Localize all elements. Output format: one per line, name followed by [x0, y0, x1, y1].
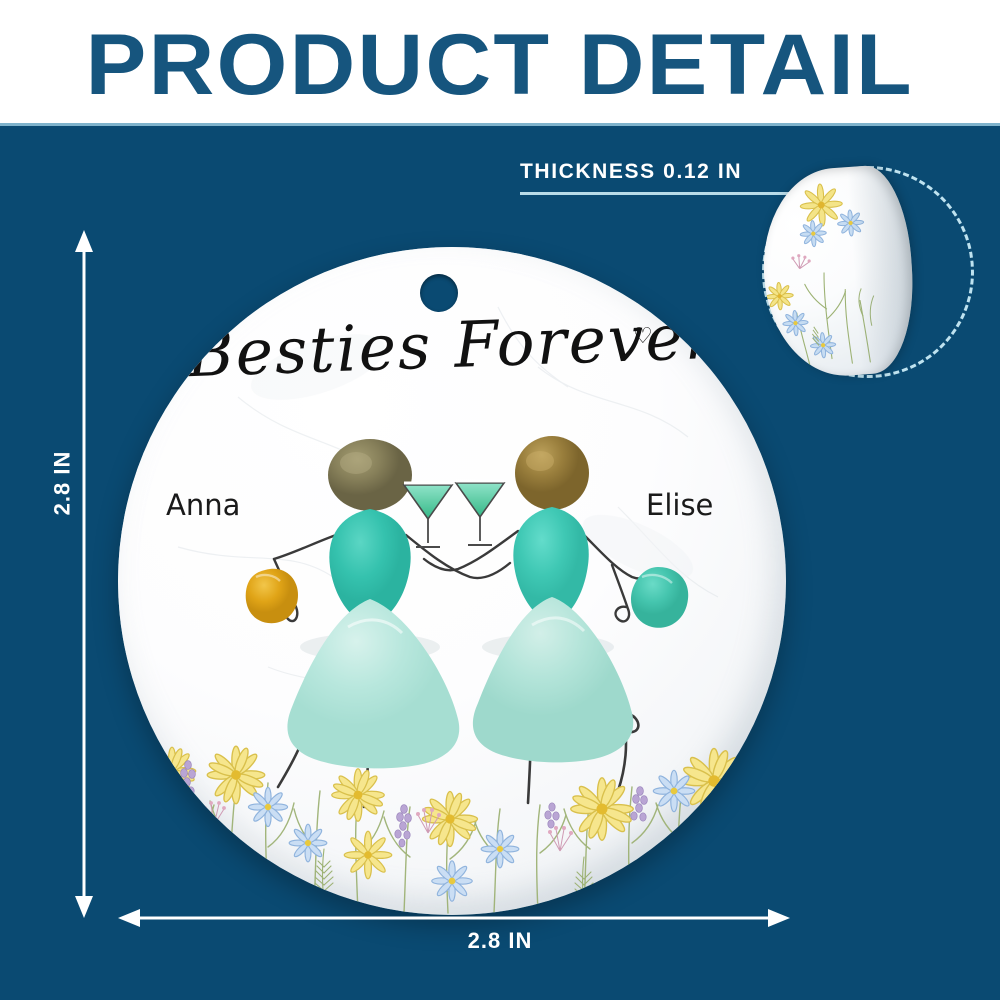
height-dimension-arrow	[71, 230, 97, 918]
header-band: PRODUCT DETAIL	[0, 0, 1000, 125]
daisy-yellow-top	[799, 183, 844, 228]
pebble-head-left	[328, 439, 412, 511]
width-dimension-label: 2.8 IN	[0, 928, 1000, 954]
height-dimension-label: 2.8 IN	[49, 451, 75, 516]
fern-fronds	[236, 849, 593, 909]
wildflower-border	[118, 595, 786, 915]
martini-glass-right	[456, 481, 504, 545]
pink-sprig	[791, 253, 811, 269]
yellow-daisies	[148, 746, 777, 879]
pebble-head-right	[515, 436, 589, 510]
product-detail-image: PRODUCT DETAIL THICKNESS 0.12 IN	[0, 0, 1000, 1000]
ornament-front-view: Besties Forever ♡ Anna Elise	[118, 247, 786, 915]
page-title: PRODUCT DETAIL	[86, 22, 914, 108]
